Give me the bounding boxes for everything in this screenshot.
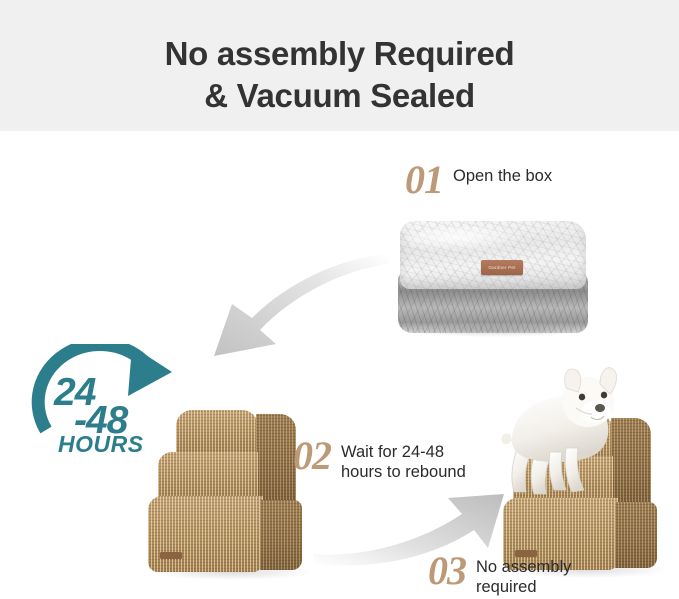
vacuum-sealed-package-image: Gardner Pet <box>398 221 588 335</box>
step-03-number: 03 <box>428 552 466 590</box>
pet-stairs-left-image <box>148 404 318 579</box>
package-top <box>400 221 586 289</box>
step-02-number: 02 <box>293 437 331 475</box>
package-sheen <box>408 227 528 253</box>
stairs-left-right-side <box>256 414 296 500</box>
step-01: 01 Open the box <box>405 161 552 199</box>
badge-line-3: HOURS <box>58 433 144 456</box>
stairs-left-brand-tag <box>160 552 182 559</box>
stairs-left-step-1-top <box>148 496 263 572</box>
arrow-box-to-stairs-icon <box>180 252 390 362</box>
french-bulldog-image <box>496 364 626 510</box>
infographic-page: No assembly Required & Vacuum Sealed 01 … <box>0 0 679 599</box>
step-02: 02 Wait for 24-48 hours to rebound <box>293 437 466 482</box>
step-02-text: Wait for 24-48 hours to rebound <box>341 437 466 482</box>
stairs-left-step-2-top <box>158 452 258 500</box>
page-title: No assembly Required & Vacuum Sealed <box>0 33 679 117</box>
package-brand-label: Gardner Pet <box>481 260 523 275</box>
package-shadow <box>404 325 584 337</box>
stairs-right-bottom-side <box>615 502 657 568</box>
header-band: No assembly Required & Vacuum Sealed <box>0 0 679 131</box>
step-03: 03 No assembly required <box>428 552 571 597</box>
step-01-text: Open the box <box>453 161 552 186</box>
step-01-number: 01 <box>405 161 443 199</box>
step-03-text: No assembly required <box>476 552 571 597</box>
stairs-left-step-3-top <box>176 410 258 454</box>
stairs-left-bottom-side <box>260 500 302 570</box>
